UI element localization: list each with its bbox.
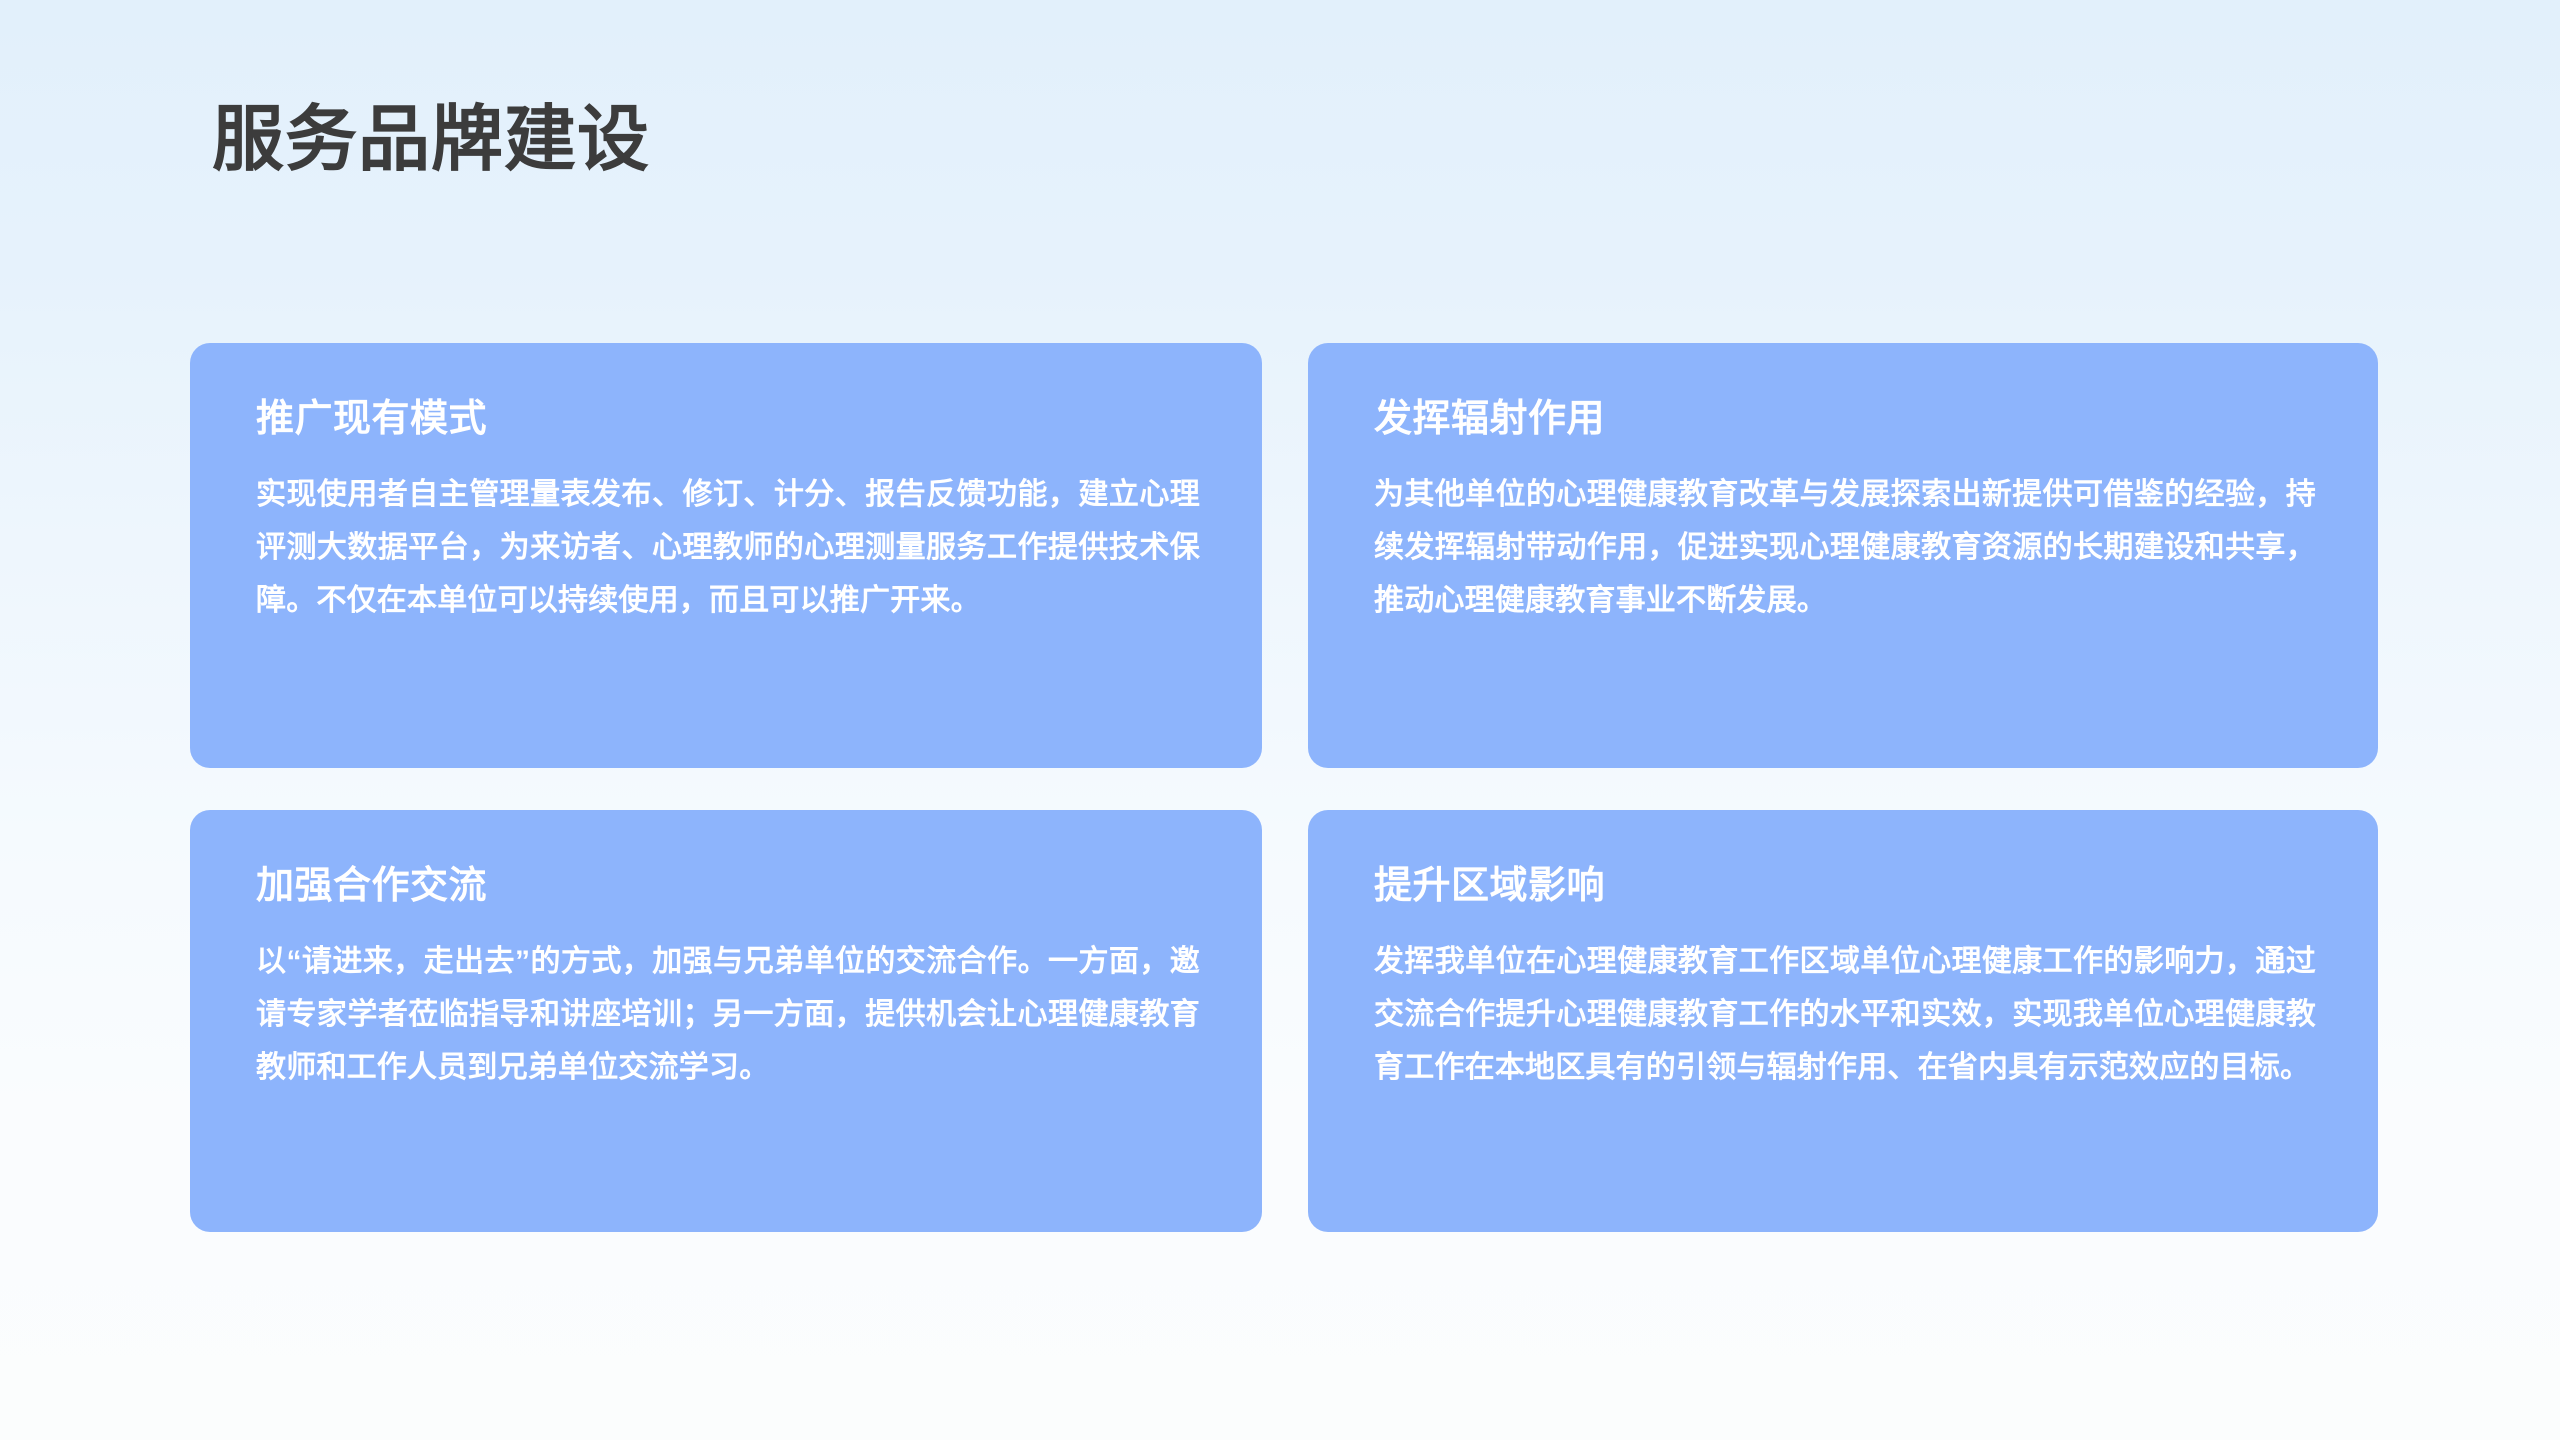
card-radiating-influence[interactable]: 发挥辐射作用 为其他单位的心理健康教育改革与发展探索出新提供可借鉴的经验，持续发…: [1308, 343, 2378, 768]
card-heading: 发挥辐射作用: [1374, 396, 2316, 442]
card-heading: 加强合作交流: [256, 863, 1200, 909]
card-strengthen-cooperation[interactable]: 加强合作交流 以“请进来，走出去”的方式，加强与兄弟单位的交流合作。一方面，邀请…: [190, 810, 1262, 1232]
card-body: 为其他单位的心理健康教育改革与发展探索出新提供可借鉴的经验，持续发挥辐射带动作用…: [1374, 468, 2316, 627]
card-body: 发挥我单位在心理健康教育工作区域单位心理健康工作的影响力，通过交流合作提升心理健…: [1374, 935, 2316, 1094]
card-body: 实现使用者自主管理量表发布、修订、计分、报告反馈功能，建立心理评测大数据平台，为…: [256, 468, 1200, 627]
card-promote-existing-model[interactable]: 推广现有模式 实现使用者自主管理量表发布、修订、计分、报告反馈功能，建立心理评测…: [190, 343, 1262, 768]
page-title: 服务品牌建设: [212, 92, 650, 188]
card-body: 以“请进来，走出去”的方式，加强与兄弟单位的交流合作。一方面，邀请专家学者莅临指…: [256, 935, 1200, 1094]
card-grid: 推广现有模式 实现使用者自主管理量表发布、修订、计分、报告反馈功能，建立心理评测…: [190, 343, 2378, 1232]
card-heading: 提升区域影响: [1374, 863, 2316, 909]
card-regional-impact[interactable]: 提升区域影响 发挥我单位在心理健康教育工作区域单位心理健康工作的影响力，通过交流…: [1308, 810, 2378, 1232]
card-heading: 推广现有模式: [256, 396, 1200, 442]
slide-canvas: 服务品牌建设 推广现有模式 实现使用者自主管理量表发布、修订、计分、报告反馈功能…: [0, 0, 2560, 1440]
